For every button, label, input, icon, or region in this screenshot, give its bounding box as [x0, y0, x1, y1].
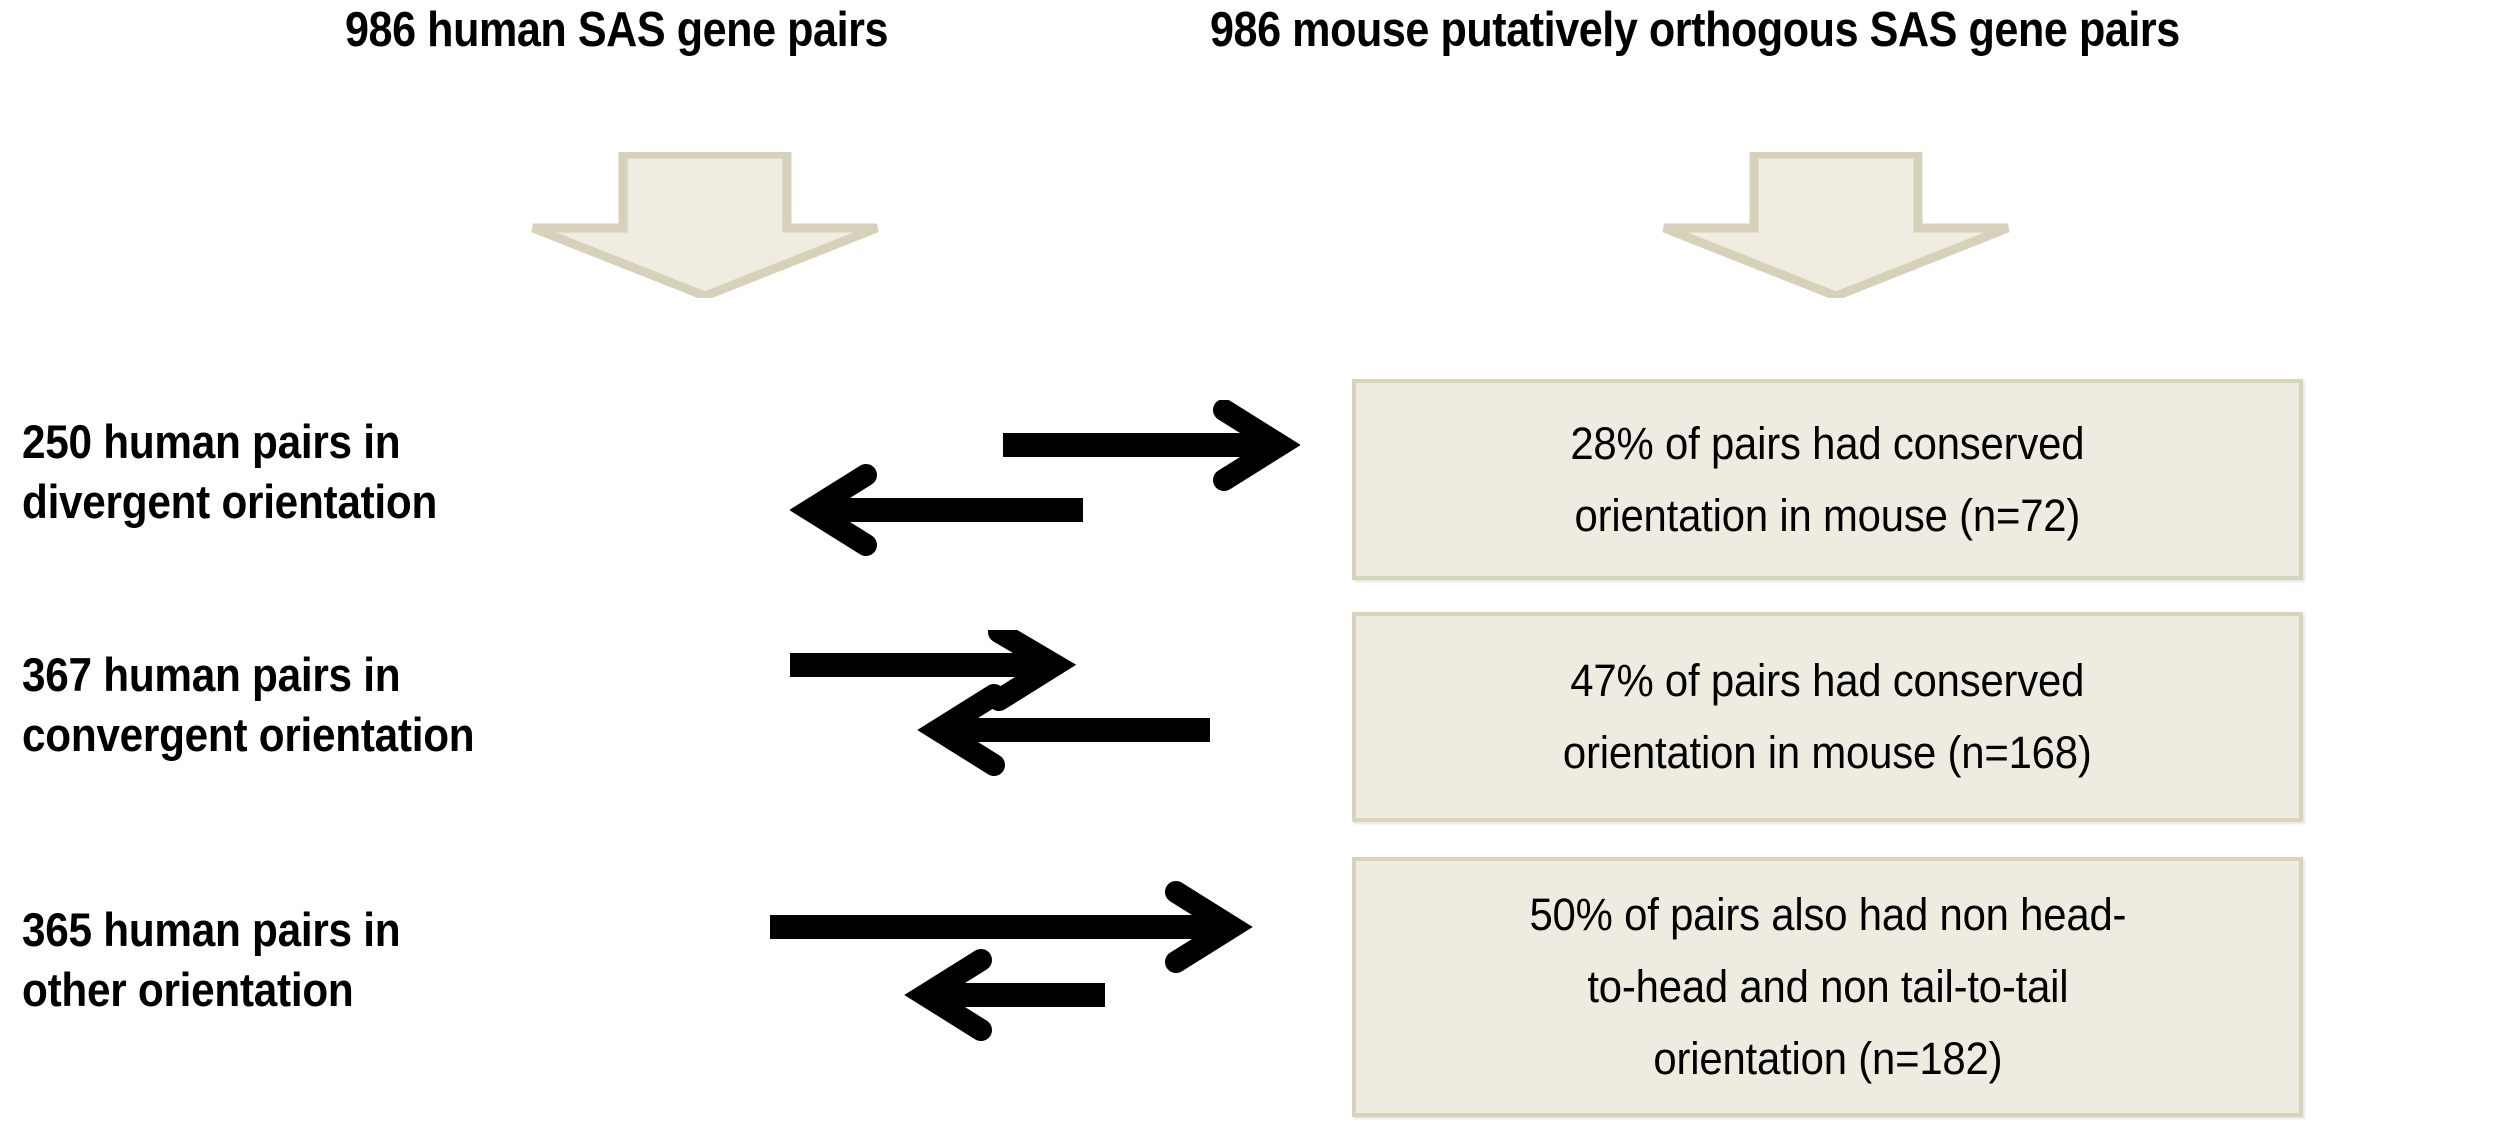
convergent-gene-arrows-icon — [770, 630, 1280, 810]
row-label-convergent: 367 human pairs in convergent orientatio… — [22, 645, 474, 765]
result-line: orientation (n=182) — [1653, 1033, 2002, 1084]
divergent-gene-arrows-icon — [790, 400, 1300, 580]
row-label-divergent-line2: divergent orientation — [22, 472, 437, 532]
result-line: orientation in mouse (n=168) — [1563, 727, 2092, 778]
row-label-other-line1: 365 human pairs in — [22, 903, 400, 956]
result-box-convergent: 47% of pairs had conserved orientation i… — [1352, 612, 2303, 822]
down-block-arrow-icon-human — [531, 152, 879, 298]
result-line: orientation in mouse (n=72) — [1575, 490, 2081, 541]
other-gene-arrows-icon — [750, 870, 1290, 1060]
result-box-divergent: 28% of pairs had conserved orientation i… — [1352, 379, 2303, 580]
result-box-convergent-text: 47% of pairs had conserved orientation i… — [1539, 645, 2116, 789]
row-label-other-line2: other orientation — [22, 960, 400, 1020]
page-title-human-column: 986 human SAS gene pairs — [345, 6, 888, 55]
result-box-divergent-text: 28% of pairs had conserved orientation i… — [1546, 408, 2108, 552]
row-label-convergent-line1: 367 human pairs in — [22, 648, 400, 701]
result-line: 28% of pairs had conserved — [1571, 418, 2085, 469]
result-line: 47% of pairs had conserved — [1570, 655, 2084, 706]
row-label-divergent: 250 human pairs in divergent orientation — [22, 412, 437, 532]
result-box-other: 50% of pairs also had non head- to-head … — [1352, 857, 2303, 1117]
page-title-mouse-column: 986 mouse putatively orthogous SAS gene … — [1210, 6, 2180, 55]
row-label-convergent-line2: convergent orientation — [22, 705, 474, 765]
row-label-other: 365 human pairs in other orientation — [22, 900, 400, 1020]
result-box-other-text: 50% of pairs also had non head- to-head … — [1505, 879, 2150, 1095]
result-line: to-head and non tail-to-tail — [1587, 961, 2068, 1012]
down-block-arrow-icon-mouse — [1662, 152, 2010, 298]
result-line: 50% of pairs also had non head- — [1529, 889, 2126, 940]
diagram-canvas: 986 human SAS gene pairs 986 mouse putat… — [0, 0, 2500, 1130]
row-label-divergent-line1: 250 human pairs in — [22, 415, 400, 468]
